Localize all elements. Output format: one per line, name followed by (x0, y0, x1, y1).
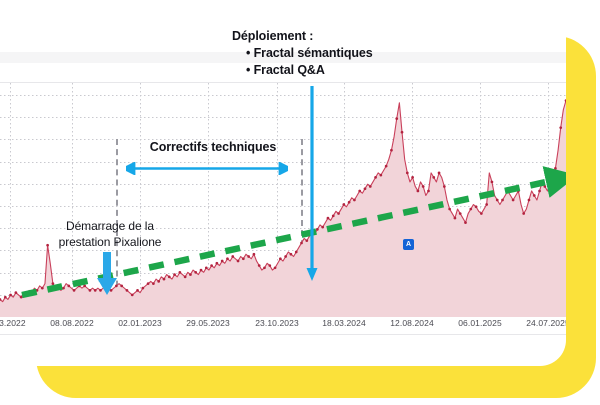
x-axis-tick-label: 23.10.2023 (255, 318, 299, 328)
chart-trend-arrow (0, 83, 566, 317)
x-axis-tick-label: 06.01.2025 (458, 318, 502, 328)
x-axis-tick-label: 24.07.2025 (526, 318, 566, 328)
start-arrow-icon (96, 252, 118, 296)
chart-x-axis: 03.202208.08.202202.01.202329.05.202323.… (0, 318, 566, 334)
annotation-demarrage: Démarrage de la prestation Pixalione (30, 218, 190, 250)
x-axis-tick-label: 08.08.2022 (50, 318, 94, 328)
screenshot-stage: A 03.202208.08.202202.01.202329.05.20232… (0, 0, 600, 405)
chart-plot-area: A (0, 83, 566, 317)
annotation-deployment-title: Déploiement : (232, 28, 462, 45)
annotation-demarrage-line2: prestation Pixalione (59, 235, 162, 249)
annotation-correctifs-label: Correctifs techniques (128, 140, 298, 154)
double-arrow-icon (126, 162, 288, 175)
badge-annotation-a[interactable]: A (403, 239, 414, 250)
x-axis-tick-label: 12.08.2024 (390, 318, 434, 328)
annotation-deployment-item-1: • Fractal Q&A (232, 62, 462, 79)
chart-card: A 03.202208.08.202202.01.202329.05.20232… (0, 0, 566, 366)
x-axis-tick-label: 18.03.2024 (322, 318, 366, 328)
annotation-deployment: Déploiement : • Fractal sémantiques • Fr… (232, 28, 462, 79)
x-axis-tick-label: 29.05.2023 (186, 318, 230, 328)
annotation-demarrage-line1: Démarrage de la (66, 219, 154, 233)
deployment-arrow-icon (302, 86, 322, 282)
annotation-deployment-item-0: • Fractal sémantiques (232, 45, 462, 62)
x-axis-tick-label: 02.01.2023 (118, 318, 162, 328)
card-bottom-divider (0, 334, 566, 335)
x-axis-tick-label: 03.2022 (0, 318, 26, 328)
